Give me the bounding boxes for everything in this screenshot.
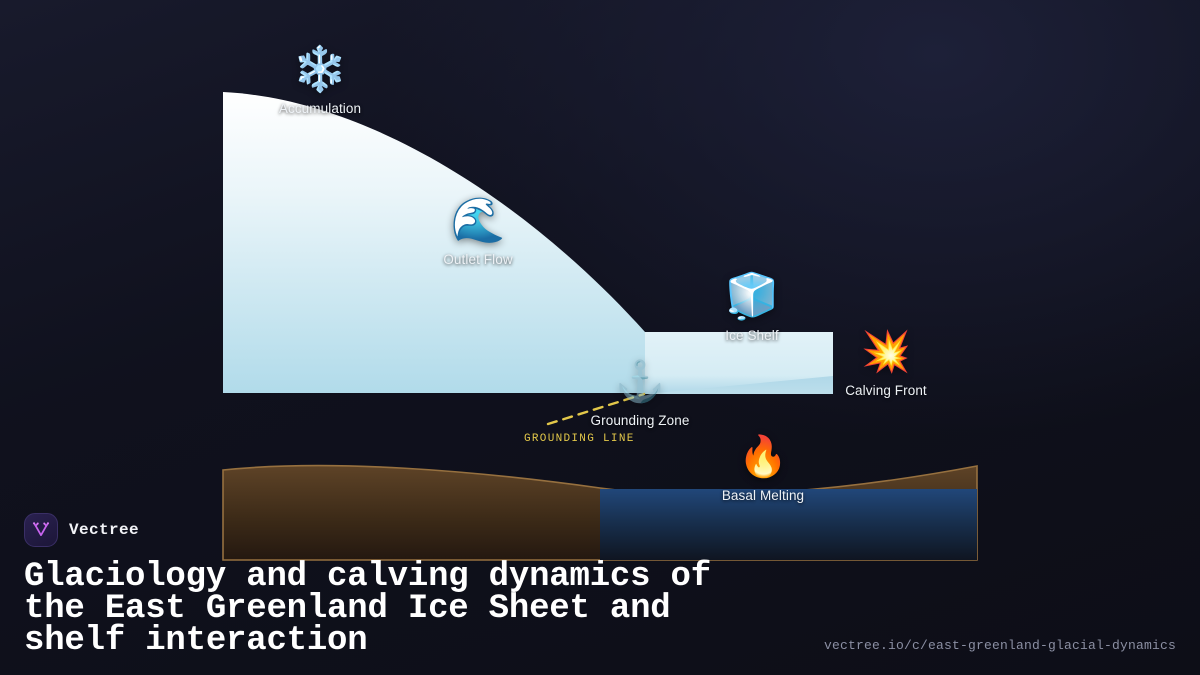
brand-name: Vectree (69, 521, 139, 539)
vectree-logo-icon (24, 513, 58, 547)
brand: Vectree (24, 513, 1176, 547)
grounding-line (548, 394, 644, 424)
page-title: Glaciology and calving dynamics of the E… (24, 561, 814, 657)
ice-sheet-layer (223, 92, 645, 393)
slide-canvas: ❄️ Accumulation 🌊 Outlet Flow 🧊 Ice Shel… (0, 0, 1200, 675)
grounding-line-label: GROUNDING LINE (524, 433, 635, 445)
page-url: vectree.io/c/east-greenland-glacial-dyna… (824, 638, 1176, 653)
